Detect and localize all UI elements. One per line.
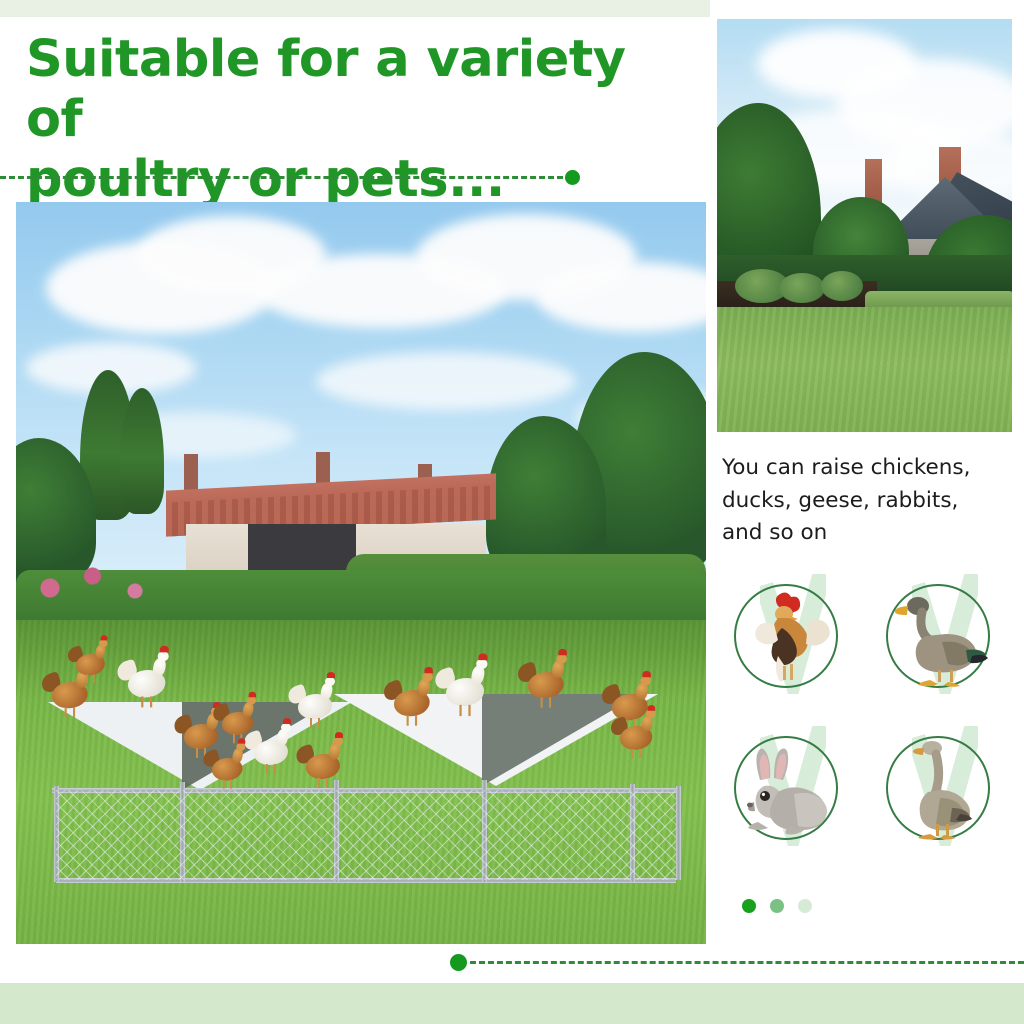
animal-badge-goose[interactable] xyxy=(878,730,996,848)
bottom-rule-dot xyxy=(450,954,467,971)
product-infographic-page: Suitable for a variety of poultry or pet… xyxy=(0,0,1024,1024)
bottom-dashed-rule xyxy=(470,961,1024,964)
top-rule-dot xyxy=(565,170,580,185)
goose-icon xyxy=(886,736,990,840)
shrub xyxy=(821,271,863,301)
side-description-line-3: and so on xyxy=(722,517,1012,550)
shrub xyxy=(779,273,825,303)
rabbit-icon xyxy=(734,736,838,840)
animal-badge-chicken[interactable] xyxy=(726,578,844,696)
wire-mesh-panel xyxy=(56,790,676,880)
lawn xyxy=(717,307,1012,432)
cloud xyxy=(316,352,576,410)
frame-post xyxy=(676,786,681,880)
main-product-photo xyxy=(16,202,706,944)
pagination-dot-active[interactable] xyxy=(742,899,756,913)
animal-badge-grid xyxy=(726,578,1016,878)
chimney xyxy=(184,454,198,492)
animal-badge-duck[interactable] xyxy=(878,578,996,696)
top-dashed-rule xyxy=(0,176,572,179)
side-description: You can raise chickens, ducks, geese, ra… xyxy=(722,452,1012,550)
pagination-dots[interactable] xyxy=(742,899,862,915)
duck-icon xyxy=(886,584,990,688)
headline-line-1: Suitable for a variety of xyxy=(26,30,625,149)
side-description-line-1: You can raise chickens, xyxy=(722,452,1012,485)
top-accent-band xyxy=(0,0,710,17)
pagination-dot[interactable] xyxy=(770,899,784,913)
bottom-accent-band xyxy=(0,983,1024,1024)
side-description-line-2: ducks, geese, rabbits, xyxy=(722,485,1012,518)
page-title: Suitable for a variety of poultry or pet… xyxy=(26,30,686,211)
rooster-icon xyxy=(734,584,838,688)
animal-badge-rabbit[interactable] xyxy=(726,730,844,848)
pagination-dot[interactable] xyxy=(798,899,812,913)
secondary-garden-photo xyxy=(717,19,1012,432)
